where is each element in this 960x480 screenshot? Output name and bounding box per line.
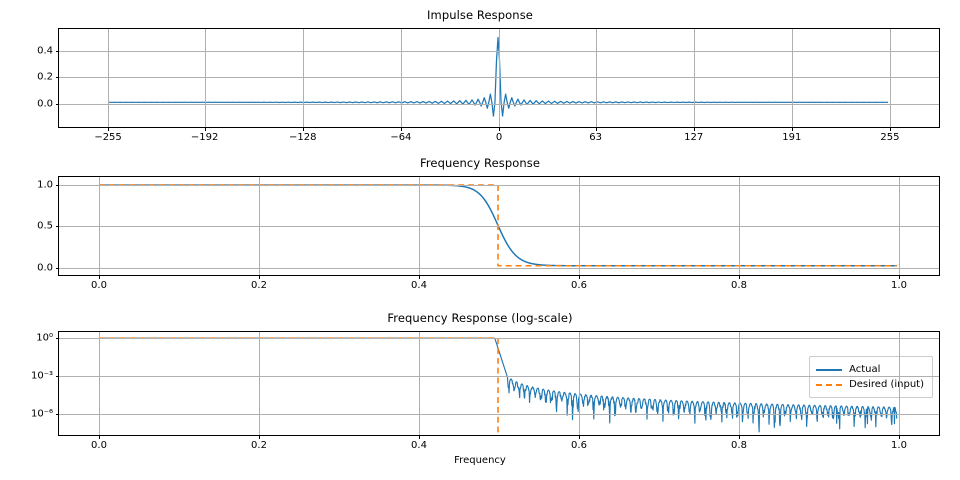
x-tick-mark	[401, 127, 402, 131]
legend-label-actual: Actual	[849, 364, 880, 375]
x-tick-label: 1.0	[891, 440, 907, 451]
impulse-response-title: Impulse Response	[0, 8, 960, 22]
x-tick-label: 0.2	[251, 440, 267, 451]
y-tick-mark	[56, 414, 60, 415]
x-tick-mark	[792, 127, 793, 131]
x-tick-label: 0.0	[91, 440, 107, 451]
x-tick-label: 0.8	[731, 440, 747, 451]
gridline-horizontal	[59, 185, 939, 186]
x-tick-mark	[99, 435, 100, 439]
frequency-response-axes: 0.00.51.00.00.20.40.60.81.0	[58, 176, 940, 276]
gridline-vertical	[694, 29, 695, 127]
gridline-vertical	[259, 177, 260, 275]
x-tick-mark	[899, 275, 900, 279]
legend-entry-desired: Desired (input)	[816, 377, 924, 392]
x-tick-mark	[259, 435, 260, 439]
y-tick-label: 10⁻⁶	[31, 408, 53, 419]
frequency-axis-label: Frequency	[0, 455, 960, 466]
legend-swatch-actual	[816, 369, 842, 371]
gridline-horizontal	[59, 376, 939, 377]
x-tick-mark	[205, 127, 206, 131]
gridline-vertical	[419, 332, 420, 435]
x-tick-label: 191	[782, 132, 801, 143]
x-tick-label: 0.8	[731, 280, 747, 291]
x-tick-mark	[499, 127, 500, 131]
gridline-vertical	[99, 177, 100, 275]
x-tick-mark	[739, 435, 740, 439]
gridline-vertical	[579, 177, 580, 275]
gridline-vertical	[890, 29, 891, 127]
x-tick-mark	[99, 275, 100, 279]
x-tick-mark	[899, 435, 900, 439]
legend: Actual Desired (input)	[809, 356, 933, 398]
frequency-response-log-plot-area	[59, 332, 939, 435]
x-tick-label: −64	[390, 132, 411, 143]
x-tick-mark	[108, 127, 109, 131]
gridline-vertical	[739, 332, 740, 435]
x-tick-mark	[303, 127, 304, 131]
gridline-vertical	[419, 177, 420, 275]
x-tick-label: 255	[880, 132, 899, 143]
x-tick-mark	[419, 435, 420, 439]
x-tick-mark	[694, 127, 695, 131]
y-tick-label: 0.4	[37, 45, 53, 56]
y-tick-label: 1.0	[37, 180, 53, 191]
gridline-vertical	[899, 332, 900, 435]
y-tick-mark	[56, 51, 60, 52]
frequency-response-title: Frequency Response	[0, 156, 960, 170]
gridline-horizontal	[59, 226, 939, 227]
x-tick-mark	[739, 275, 740, 279]
gridline-vertical	[108, 29, 109, 127]
x-tick-label: 127	[684, 132, 703, 143]
gridline-vertical	[739, 177, 740, 275]
x-tick-label: 0.2	[251, 280, 267, 291]
gridline-vertical	[401, 29, 402, 127]
y-tick-mark	[56, 376, 60, 377]
y-tick-label: 0.5	[37, 221, 53, 232]
x-tick-mark	[890, 127, 891, 131]
gridline-vertical	[579, 332, 580, 435]
gridline-vertical	[499, 29, 500, 127]
x-tick-label: −192	[191, 132, 218, 143]
x-tick-label: 0.6	[571, 280, 587, 291]
x-tick-mark	[259, 275, 260, 279]
y-tick-label: 10⁰	[36, 333, 53, 344]
y-tick-mark	[56, 226, 60, 227]
frequency-response-log-series-group	[59, 332, 939, 435]
y-tick-label: 0.0	[37, 98, 53, 109]
x-tick-label: 63	[589, 132, 602, 143]
gridline-vertical	[596, 29, 597, 127]
gridline-horizontal	[59, 414, 939, 415]
x-tick-label: −128	[289, 132, 316, 143]
legend-label-desired: Desired (input)	[849, 379, 924, 390]
y-tick-mark	[56, 268, 60, 269]
gridline-vertical	[259, 332, 260, 435]
gridline-horizontal	[59, 338, 939, 339]
x-tick-label: 0.6	[571, 440, 587, 451]
y-tick-mark	[56, 104, 60, 105]
gridline-vertical	[792, 29, 793, 127]
figure-canvas: Impulse Response 0.00.20.4−255−192−128−6…	[0, 0, 960, 480]
x-tick-label: 0	[496, 132, 502, 143]
gridline-vertical	[205, 29, 206, 127]
x-tick-mark	[579, 275, 580, 279]
x-tick-label: 1.0	[891, 280, 907, 291]
y-tick-mark	[56, 338, 60, 339]
x-tick-mark	[596, 127, 597, 131]
y-tick-label: 10⁻³	[31, 371, 53, 382]
x-tick-label: 0.4	[411, 280, 427, 291]
y-tick-mark	[56, 185, 60, 186]
frequency-response-log-axes: Actual Desired (input) 10⁰10⁻³10⁻⁶0.00.2…	[58, 331, 940, 436]
x-tick-label: 0.0	[91, 280, 107, 291]
y-tick-label: 0.0	[37, 262, 53, 273]
y-tick-mark	[56, 77, 60, 78]
impulse-response-axes: 0.00.20.4−255−192−128−64063127191255	[58, 28, 940, 128]
legend-swatch-desired	[816, 384, 842, 386]
x-tick-label: 0.4	[411, 440, 427, 451]
frequency-response-log-title: Frequency Response (log-scale)	[0, 311, 960, 325]
x-tick-label: −255	[94, 132, 121, 143]
y-tick-label: 0.2	[37, 72, 53, 83]
gridline-vertical	[899, 177, 900, 275]
x-tick-mark	[579, 435, 580, 439]
legend-entry-actual: Actual	[816, 362, 924, 377]
x-tick-mark	[419, 275, 420, 279]
gridline-horizontal	[59, 268, 939, 269]
gridline-vertical	[303, 29, 304, 127]
gridline-vertical	[99, 332, 100, 435]
